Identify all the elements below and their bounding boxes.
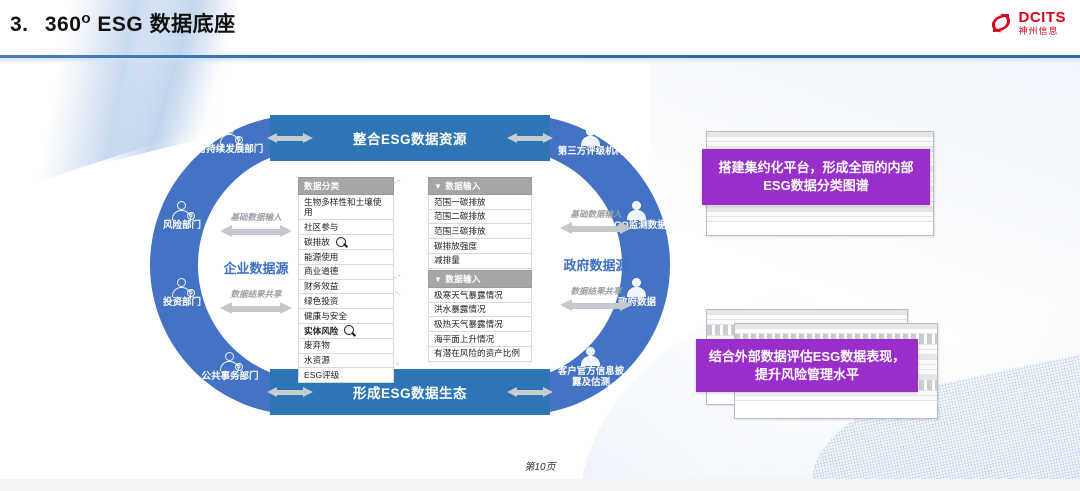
- row-label: 极热天气暴露情况: [434, 319, 503, 330]
- callout-box-2: 结合外部数据评估ESG数据表现，提升风险管理水平: [696, 339, 918, 392]
- table-header[interactable]: ▼数据输入: [428, 270, 532, 288]
- search-icon[interactable]: [344, 325, 355, 336]
- persona-third-party-rating[interactable]: 第三方评级机构: [554, 127, 628, 158]
- row-label: ESG评级: [304, 370, 339, 381]
- row-label: 实体风险: [304, 326, 338, 337]
- persona-label: 客户官方信息披露及估测: [558, 366, 625, 388]
- dcits-swirl-icon: [988, 10, 1014, 36]
- chevron-down-icon: ▼: [434, 182, 442, 191]
- data-category-table: 数据分类 生物多样性和土壤使用 社区参与 碳排放 能源使用 商业道德 财务效益 …: [298, 177, 394, 383]
- persona-label: 风险部门: [163, 220, 201, 231]
- user-outline-icon: $: [219, 125, 241, 144]
- table-row[interactable]: 水资源: [298, 354, 394, 369]
- row-label: 社区参与: [304, 222, 338, 233]
- user-outline-icon: $: [171, 278, 193, 297]
- row-label: 有潜在风险的资产比例: [434, 348, 520, 359]
- user-solid-icon: [580, 127, 602, 146]
- top-band: 整合ESG数据资源: [270, 115, 550, 161]
- persona-label: 公共事务部门: [201, 371, 258, 382]
- left-share-caption: 数据结果共享: [208, 288, 304, 300]
- table-row[interactable]: 健康与安全: [298, 309, 394, 324]
- double-arrow-icon: [220, 302, 292, 315]
- bottom-strip: [0, 479, 1080, 491]
- table-row[interactable]: 商业道德: [298, 265, 394, 280]
- screenshot-card-bottom: 结合外部数据评估ESG数据表现，提升风险管理水平: [706, 309, 938, 419]
- row-label: 减排量: [434, 255, 460, 266]
- bottom-band-label: 形成ESG数据生态: [353, 382, 467, 402]
- row-label: 商业道德: [304, 266, 338, 277]
- persona-label: 可持续发展部门: [197, 144, 264, 155]
- right-share-flow: 数据结果共享: [548, 285, 644, 312]
- table-row[interactable]: 能源使用: [298, 250, 394, 265]
- row-label: 范围二碳排放: [434, 211, 486, 222]
- row-label: 财务效益: [304, 281, 338, 292]
- double-arrow-icon: [560, 222, 632, 235]
- row-label: 废弃物: [304, 340, 330, 351]
- page-title-number: 3.: [10, 13, 29, 36]
- double-arrow-icon: [220, 225, 292, 238]
- row-label: 健康与安全: [304, 311, 347, 322]
- callout-box-1: 搭建集约化平台，形成全面的内部ESG数据分类图谱: [702, 149, 930, 205]
- user-solid-icon: [580, 347, 602, 366]
- table-row[interactable]: 范围三碳排放: [428, 224, 532, 239]
- table-row[interactable]: 实体风险: [298, 324, 394, 339]
- table-row[interactable]: 财务效益: [298, 280, 394, 295]
- search-icon[interactable]: [336, 237, 347, 248]
- screenshot-card-top: 搭建集约化平台，形成全面的内部ESG数据分类图谱: [706, 131, 934, 236]
- persona-client-disclosure[interactable]: 客户官方信息披露及估测: [554, 347, 628, 388]
- table-row[interactable]: 范围一碳排放: [428, 195, 532, 210]
- left-share-flow: 数据结果共享: [208, 288, 304, 315]
- page-number: 第10页: [0, 458, 1080, 473]
- logo-text-block: DCITS 神州信息: [1019, 10, 1067, 36]
- persona-label: 第三方评级机构: [558, 146, 625, 157]
- right-input-caption: 基础数据输入: [548, 208, 644, 220]
- left-input-flow: 基础数据输入: [208, 211, 304, 238]
- row-label: 绿色投资: [304, 296, 338, 307]
- top-band-label: 整合ESG数据资源: [353, 128, 467, 148]
- row-label: 能源使用: [304, 252, 338, 263]
- table-row[interactable]: 有潜在风险的资产比例: [428, 347, 532, 362]
- background-right-gradient: [650, 60, 1080, 490]
- table-row[interactable]: 社区参与: [298, 220, 394, 235]
- row-label: 海平面上升情况: [434, 334, 494, 345]
- row-label: 极寒天气暴露情况: [434, 290, 503, 301]
- row-label: 碳排放: [304, 237, 330, 248]
- double-arrow-icon: [507, 387, 553, 398]
- page-title-rest: ESG 数据底座: [91, 13, 236, 36]
- table-row[interactable]: 洪水暴露情况: [428, 303, 532, 318]
- row-label: 范围一碳排放: [434, 197, 486, 208]
- user-outline-icon: $: [171, 201, 193, 220]
- left-input-caption: 基础数据输入: [208, 211, 304, 223]
- callout-text: 搭建集约化平台，形成全面的内部ESG数据分类图谱: [710, 159, 922, 194]
- persona-public-affairs-dept[interactable]: $ 公共事务部门: [193, 352, 267, 383]
- table-row[interactable]: 碳排放强度: [428, 239, 532, 254]
- right-input-flow: 基础数据输入: [548, 208, 644, 235]
- data-input-table-physical-risk: ▼数据输入 极寒天气暴露情况 洪水暴露情况 极热天气暴露情况 海平面上升情况 有…: [428, 270, 532, 362]
- callout-text: 结合外部数据评估ESG数据表现，提升风险管理水平: [704, 348, 910, 383]
- row-label: 生物多样性和土壤使用: [304, 197, 388, 218]
- slide-canvas: 3. 360o ESG 数据底座 DCITS 神州信息 整合ESG数据资源: [0, 0, 1080, 491]
- page-title-degree: o: [81, 10, 91, 27]
- table-header-label: 数据输入: [445, 181, 481, 191]
- logo-cn-text: 神州信息: [1019, 27, 1067, 36]
- user-outline-icon: $: [219, 352, 241, 371]
- brand-logo: DCITS 神州信息: [988, 10, 1067, 36]
- row-label: 洪水暴露情况: [434, 304, 486, 315]
- row-label: 水资源: [304, 355, 330, 366]
- table-header[interactable]: ▼数据输入: [428, 177, 532, 195]
- government-data-source-label: 政府数据源: [541, 255, 651, 274]
- table-row[interactable]: 绿色投资: [298, 294, 394, 309]
- row-label: 范围三碳排放: [434, 226, 486, 237]
- header-divider-glow: [0, 58, 1080, 64]
- table-row[interactable]: 碳排放: [298, 235, 394, 250]
- table-row[interactable]: 生物多样性和土壤使用: [298, 195, 394, 220]
- page-title: 3. 360o ESG 数据底座: [10, 8, 236, 38]
- logo-en-text: DCITS: [1019, 10, 1067, 25]
- double-arrow-icon: [267, 133, 313, 144]
- table-row[interactable]: 极寒天气暴露情况: [428, 288, 532, 303]
- data-input-table-emissions: ▼数据输入 范围一碳排放 范围二碳排放 范围三碳排放 碳排放强度 减排量: [428, 177, 532, 269]
- right-share-caption: 数据结果共享: [548, 285, 644, 297]
- enterprise-data-source-label: 企业数据源: [201, 258, 311, 277]
- double-arrow-icon: [267, 387, 313, 398]
- table-row[interactable]: ESG评级: [298, 368, 394, 383]
- persona-sustainability-dept[interactable]: $ 可持续发展部门: [193, 125, 267, 156]
- double-arrow-icon: [507, 133, 553, 144]
- table-header-label: 数据输入: [445, 274, 481, 284]
- esg-ring-diagram: 整合ESG数据资源 形成ESG数据生态 $ 可持续发展部门 $ 风险部门 $ 投…: [150, 115, 670, 415]
- table-row[interactable]: 极热天气暴露情况: [428, 317, 532, 332]
- double-arrow-icon: [560, 299, 632, 312]
- table-row[interactable]: 范围二碳排放: [428, 210, 532, 225]
- table-header: 数据分类: [298, 177, 394, 195]
- persona-label: 投资部门: [163, 297, 201, 308]
- table-row[interactable]: 海平面上升情况: [428, 332, 532, 347]
- chevron-down-icon: ▼: [434, 275, 442, 284]
- page-title-main: 360: [45, 13, 82, 36]
- row-label: 碳排放强度: [434, 241, 477, 252]
- table-row[interactable]: 废弃物: [298, 339, 394, 354]
- table-row[interactable]: 减排量: [428, 254, 532, 269]
